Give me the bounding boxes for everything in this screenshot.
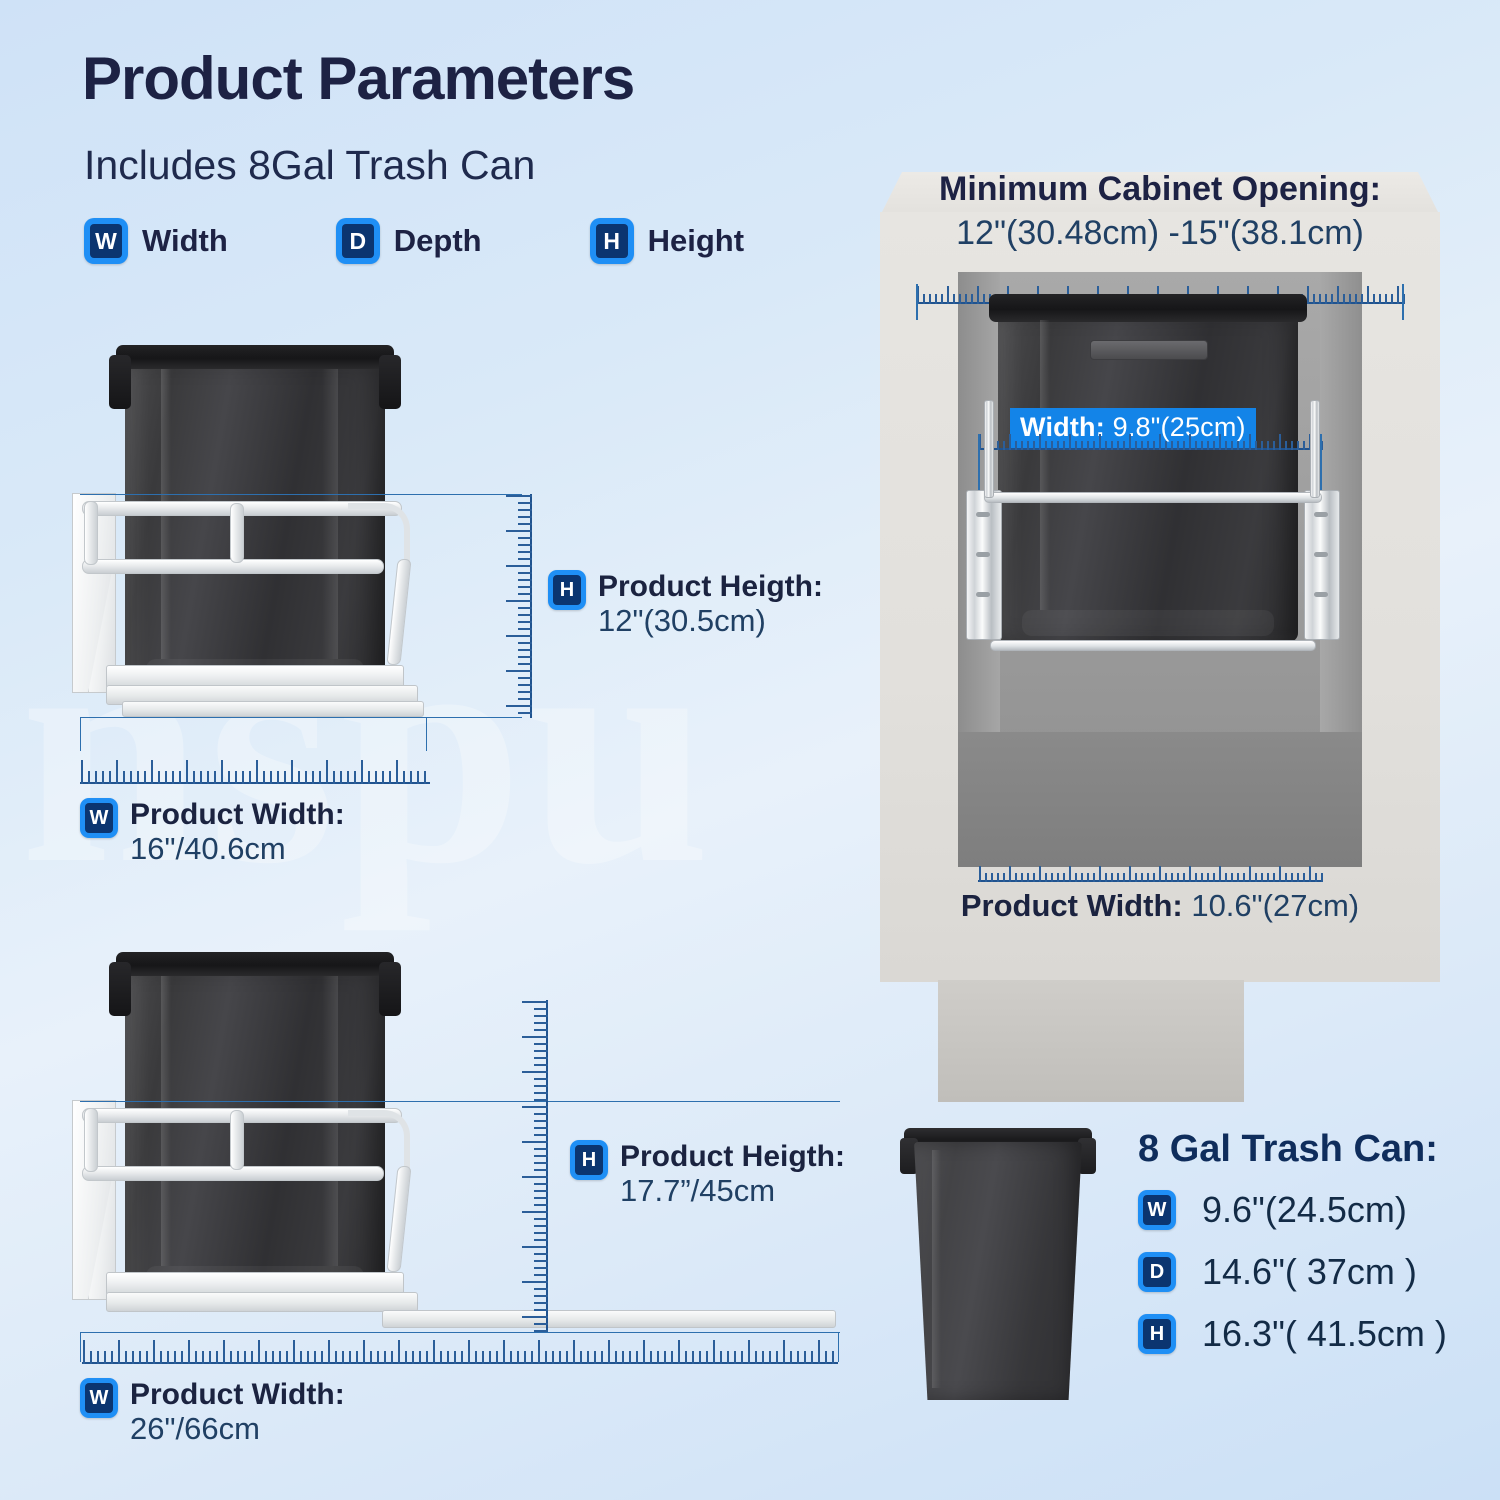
- spec-depth-value: 14.6"( 37cm ): [1202, 1251, 1417, 1293]
- bin-ear-right: [379, 355, 401, 409]
- ruler-tick: [1307, 286, 1309, 304]
- ruler-tick: [139, 1351, 141, 1364]
- ruler-tick: [1171, 441, 1173, 450]
- slide-slot-left-1: [976, 512, 990, 517]
- ruler-tick: [123, 771, 125, 784]
- trash-can-specs: 8 Gal Trash Can: W 9.6"(24.5cm) D 14.6"(…: [1138, 1128, 1447, 1375]
- ruler-tick: [545, 1351, 547, 1364]
- ruler-tick: [762, 1351, 764, 1364]
- ruler-tick: [1177, 873, 1179, 882]
- trash-can-highlight: [932, 1150, 941, 1388]
- ruler-tick: [524, 1351, 526, 1364]
- ruler-tick: [1201, 873, 1203, 882]
- depth-badge-icon: D: [336, 218, 380, 264]
- ruler-tick: [559, 1351, 561, 1364]
- bin-rim-2: [116, 952, 394, 976]
- ruler-tick: [95, 771, 97, 784]
- width-badge-icon: W: [84, 218, 128, 264]
- ruler-tick: [109, 771, 111, 784]
- ruler-tick: [503, 1340, 505, 1364]
- spec-width-badge-letter: W: [1143, 1195, 1171, 1225]
- ruler-tick: [328, 1340, 330, 1364]
- ruler-tick: [971, 294, 973, 304]
- cabinet-diagram: Minimum Cabinet Opening: 12"(30.48cm) -1…: [880, 172, 1440, 1012]
- ruler-tick: [790, 1351, 792, 1364]
- width-badge-letter-top: W: [85, 803, 113, 833]
- ruler-tick: [389, 771, 391, 784]
- ruler-tick: [235, 771, 237, 784]
- ruler-tick: [167, 1351, 169, 1364]
- ruler-tick: [534, 1309, 548, 1311]
- ruler-tick: [727, 1351, 729, 1364]
- ruler-tick: [291, 760, 293, 784]
- ruler-tick: [144, 771, 146, 784]
- ruler-tick: [1237, 441, 1239, 450]
- ruler-tick: [340, 771, 342, 784]
- ruler-tick: [111, 1351, 113, 1364]
- measure-height-bottom-line1: Product Heigth:: [620, 1140, 845, 1174]
- ruler-tick: [279, 1351, 281, 1364]
- ruler-tick: [354, 771, 356, 784]
- ruler-tick: [587, 1351, 589, 1364]
- ruler-tick: [517, 1351, 519, 1364]
- cabinet-bin-rim: [989, 294, 1307, 322]
- ruler-tick: [1385, 294, 1387, 304]
- ruler-tick: [230, 1351, 232, 1364]
- ruler-tick: [534, 1295, 548, 1297]
- ruler-tick: [1117, 873, 1119, 882]
- width-badge-icon-bottom: W: [80, 1378, 118, 1418]
- ruler-tick: [1051, 873, 1053, 882]
- ruler-tick: [566, 1351, 568, 1364]
- ruler-tick: [573, 1340, 575, 1364]
- ruler-tick: [137, 771, 139, 784]
- slide-slot-right-1: [1314, 512, 1328, 517]
- ruler-tick: [118, 1340, 120, 1364]
- legend-item-depth: D Depth: [336, 218, 482, 264]
- spec-width-value: 9.6"(24.5cm): [1202, 1189, 1407, 1231]
- ruler-tick: [769, 1351, 771, 1364]
- cabinet-bin-handle: [1090, 340, 1208, 360]
- ruler-tick: [1219, 434, 1221, 450]
- ruler-tick: [534, 1029, 548, 1031]
- ruler-tick: [151, 760, 153, 784]
- ruler-tick: [983, 294, 985, 304]
- ruler-tick: [417, 771, 419, 784]
- ruler-tick: [1099, 866, 1101, 882]
- horizontal-ruler-top: [80, 752, 430, 784]
- ruler-tick: [1039, 866, 1041, 882]
- ruler-tick: [1349, 294, 1351, 304]
- ruler-tick: [657, 1351, 659, 1364]
- ruler-tick: [1165, 441, 1167, 450]
- ruler-tick: [685, 1351, 687, 1364]
- legend-label-depth: Depth: [394, 223, 482, 259]
- ruler-tick: [1243, 873, 1245, 882]
- ruler-tick: [1057, 873, 1059, 882]
- dim-line-top-2: [80, 1101, 840, 1102]
- ruler-tick: [1297, 873, 1299, 882]
- ruler-tick: [270, 771, 272, 784]
- ruler-tick: [1117, 441, 1119, 450]
- ruler-tick: [534, 1078, 548, 1080]
- ruler-tick: [518, 516, 532, 518]
- ruler-tick: [1373, 294, 1375, 304]
- ruler-tick: [165, 771, 167, 784]
- ruler-tick: [518, 593, 532, 595]
- ruler-tick: [534, 1302, 548, 1304]
- legend: W Width D Depth H Height: [84, 218, 744, 264]
- ruler-tick: [518, 691, 532, 693]
- ruler-tick: [534, 1043, 548, 1045]
- height-badge-letter-bottom: H: [575, 1145, 603, 1175]
- ruler-tick: [1267, 441, 1269, 450]
- ruler-tick: [825, 1351, 827, 1364]
- ruler-tick: [1165, 873, 1167, 882]
- cabinet-floor: [958, 732, 1362, 867]
- trash-can-specs-title: 8 Gal Trash Can:: [1138, 1128, 1447, 1171]
- ruler-tick: [1063, 873, 1065, 882]
- ruler-tick: [312, 771, 314, 784]
- ruler-tick: [277, 771, 279, 784]
- ruler-tick: [518, 502, 532, 504]
- ruler-tick: [202, 1351, 204, 1364]
- legend-item-width: W Width: [84, 218, 228, 264]
- measure-width-bottom-line1: Product Width:: [130, 1378, 345, 1412]
- ruler-tick: [181, 1351, 183, 1364]
- ruler-tick: [534, 1113, 548, 1115]
- measure-height-top-line2: 12"(30.5cm): [598, 604, 823, 639]
- ruler-tick: [1303, 873, 1305, 882]
- ruler-tick: [506, 635, 532, 637]
- diagram-top-left: [70, 345, 550, 765]
- ruler-tick: [518, 544, 532, 546]
- ruler-tick: [305, 771, 307, 784]
- ruler-tick: [804, 1351, 806, 1364]
- vertical-ruler-top: [498, 494, 532, 718]
- ruler-tick: [748, 1340, 750, 1364]
- frame-left-post: [84, 501, 98, 565]
- frame-left-post-2: [84, 1108, 98, 1172]
- spec-depth-badge-icon: D: [1138, 1252, 1176, 1292]
- ruler-tick: [81, 760, 83, 784]
- ruler-tick: [1249, 434, 1251, 450]
- ruler-tick: [1159, 434, 1161, 450]
- ruler-tick: [518, 663, 532, 665]
- ruler-tick: [534, 1253, 548, 1255]
- ruler-tick: [1273, 873, 1275, 882]
- ruler-tick: [941, 294, 943, 304]
- ruler-tick: [403, 771, 405, 784]
- ruler-tick: [664, 1351, 666, 1364]
- ruler-tick: [706, 1351, 708, 1364]
- ruler-tick: [1379, 294, 1381, 304]
- ruler-tick: [368, 771, 370, 784]
- measure-height-top: H Product Heigth: 12"(30.5cm): [548, 570, 823, 638]
- ruler-tick: [1111, 441, 1113, 450]
- ruler-tick: [622, 1351, 624, 1364]
- ruler-tick: [1343, 294, 1345, 304]
- width-badge-icon-top: W: [80, 798, 118, 838]
- slide-slot-right-3: [1314, 592, 1328, 597]
- ruler-tick: [1153, 441, 1155, 450]
- slide-slot-right-2: [1314, 552, 1328, 557]
- ruler-tick: [518, 621, 532, 623]
- ruler-baseline: [80, 782, 430, 784]
- ruler-tick: [1015, 441, 1017, 450]
- height-badge-icon-top: H: [548, 570, 586, 610]
- ruler-tick: [1195, 441, 1197, 450]
- ruler-tick: [1009, 866, 1011, 882]
- ruler-tick: [195, 1351, 197, 1364]
- ruler-tick: [1261, 441, 1263, 450]
- ruler-tick: [1075, 873, 1077, 882]
- ruler-tick: [580, 1351, 582, 1364]
- depth-badge-letter: D: [342, 224, 374, 258]
- ruler-tick: [518, 586, 532, 588]
- slide-slot-left-2: [976, 552, 990, 557]
- ruler-tick: [1027, 441, 1029, 450]
- ruler-tick: [321, 1351, 323, 1364]
- ruler-tick: [1355, 294, 1357, 304]
- ruler-tick: [1313, 294, 1315, 304]
- cabinet-base-rail: [990, 640, 1316, 651]
- ruler-tick: [518, 523, 532, 525]
- ruler-tick: [256, 760, 258, 784]
- ruler-tick: [363, 1340, 365, 1364]
- ruler-tick: [382, 771, 384, 784]
- cabinet-dim-tick-left: [916, 284, 918, 320]
- ruler-tick: [1027, 873, 1029, 882]
- ruler-tick: [506, 670, 532, 672]
- ruler-tick: [1039, 434, 1041, 450]
- ruler-tick: [300, 1351, 302, 1364]
- trash-bin-illustration: [125, 361, 385, 691]
- cabinet-bin-highlight: [1040, 320, 1050, 610]
- ruler-tick: [1129, 434, 1131, 450]
- ruler-tick: [160, 1351, 162, 1364]
- trash-bin-illustration-2: [125, 968, 385, 1298]
- ruler-tick: [242, 771, 244, 784]
- ruler-tick: [923, 294, 925, 304]
- dim-tick-left-2: [80, 1332, 81, 1362]
- ruler-tick: [1111, 873, 1113, 882]
- cabinet-product-width-ruler: [978, 862, 1322, 882]
- width-badge-letter-bottom: W: [85, 1383, 113, 1413]
- ruler-tick: [506, 600, 532, 602]
- ruler-tick: [518, 579, 532, 581]
- ruler-tick: [1147, 441, 1149, 450]
- ruler-tick: [506, 530, 532, 532]
- ruler-tick: [1319, 294, 1321, 304]
- ruler-tick: [699, 1351, 701, 1364]
- cabinet-product-width-label: Product Width:: [961, 888, 1191, 923]
- ruler-tick: [534, 1260, 548, 1262]
- cabinet-upper-post-right: [1310, 400, 1320, 498]
- ruler-tick: [518, 572, 532, 574]
- ruler-tick: [522, 1281, 548, 1283]
- ruler-tick: [272, 1351, 274, 1364]
- ruler-tick: [396, 760, 398, 784]
- ruler-tick: [534, 1092, 548, 1094]
- ruler-tick: [929, 294, 931, 304]
- ruler-tick: [102, 771, 104, 784]
- ruler-tick: [1237, 873, 1239, 882]
- ruler-tick: [783, 1340, 785, 1364]
- ruler-tick: [965, 294, 967, 304]
- ruler-tick: [534, 1183, 548, 1185]
- ruler-tick: [447, 1351, 449, 1364]
- ruler-tick: [258, 1340, 260, 1364]
- ruler-tick: [734, 1351, 736, 1364]
- ruler-tick: [534, 1288, 548, 1290]
- ruler-tick: [1325, 294, 1327, 304]
- ruler-tick: [522, 1106, 548, 1108]
- spec-width-badge-icon: W: [1138, 1190, 1176, 1230]
- ruler-tick: [534, 1267, 548, 1269]
- ruler-tick: [83, 1340, 85, 1364]
- ruler-tick: [88, 771, 90, 784]
- measure-width-top: W Product Width: 16"/40.6cm: [80, 798, 345, 866]
- ruler-tick: [1051, 441, 1053, 450]
- ruler-tick: [1063, 441, 1065, 450]
- ruler-tick: [1285, 873, 1287, 882]
- ruler-tick: [776, 1351, 778, 1364]
- ruler-baseline: [978, 448, 1322, 450]
- ruler-tick: [326, 760, 328, 784]
- ruler-tick: [741, 1351, 743, 1364]
- ruler-tick: [104, 1351, 106, 1364]
- ruler-tick: [454, 1351, 456, 1364]
- ruler-tick: [1129, 866, 1131, 882]
- ruler-tick: [947, 286, 949, 304]
- ruler-tick: [506, 495, 532, 497]
- cabinet-product-width-caption: Product Width: 10.6"(27cm): [880, 888, 1440, 924]
- ruler-tick: [1045, 441, 1047, 450]
- ruler-tick: [1159, 866, 1161, 882]
- ruler-tick: [1045, 873, 1047, 882]
- ruler-tick: [518, 628, 532, 630]
- measure-width-bottom: W Product Width: 26"/66cm: [80, 1378, 345, 1446]
- measure-height-bottom: H Product Heigth: 17.7”/45cm: [570, 1140, 845, 1208]
- ruler-tick: [1015, 873, 1017, 882]
- ruler-tick: [534, 1204, 548, 1206]
- ruler-tick: [1309, 866, 1311, 882]
- ruler-tick: [534, 1323, 548, 1325]
- height-badge-letter: H: [596, 224, 628, 258]
- ruler-tick: [534, 1127, 548, 1129]
- legend-label-height: Height: [648, 223, 744, 259]
- measure-height-bottom-line2: 17.7”/45cm: [620, 1174, 845, 1209]
- ruler-tick: [1219, 866, 1221, 882]
- ruler-tick: [534, 1225, 548, 1227]
- ruler-tick: [286, 1351, 288, 1364]
- ruler-tick: [1033, 441, 1035, 450]
- ruler-tick: [249, 771, 251, 784]
- ruler-tick: [522, 1211, 548, 1213]
- ruler-tick: [1267, 873, 1269, 882]
- ruler-tick: [1075, 441, 1077, 450]
- ruler-tick: [384, 1351, 386, 1364]
- ruler-tick: [1123, 873, 1125, 882]
- ruler-tick: [985, 873, 987, 882]
- page-title: Product Parameters: [82, 44, 634, 113]
- dim-tick-right: [426, 717, 427, 751]
- ruler-tick: [1367, 286, 1369, 304]
- ruler-tick: [534, 1190, 548, 1192]
- ruler-tick: [361, 760, 363, 784]
- ruler-tick: [1231, 873, 1233, 882]
- ruler-tick: [534, 1148, 548, 1150]
- ruler-tick: [534, 1064, 548, 1066]
- ruler-tick: [298, 771, 300, 784]
- ruler-tick: [538, 1340, 540, 1364]
- ruler-tick: [1225, 441, 1227, 450]
- ruler-tick: [935, 294, 937, 304]
- ruler-tick: [1069, 866, 1071, 882]
- ruler-tick: [650, 1351, 652, 1364]
- ruler-tick: [1213, 441, 1215, 450]
- ruler-tick: [1093, 441, 1095, 450]
- ruler-tick: [349, 1351, 351, 1364]
- page-subtitle: Includes 8Gal Trash Can: [84, 142, 535, 189]
- ruler-tick: [1147, 873, 1149, 882]
- bin-ear-right-2: [379, 962, 401, 1016]
- ruler-tick: [1189, 434, 1191, 450]
- ruler-tick: [692, 1351, 694, 1364]
- ruler-tick: [153, 1340, 155, 1364]
- cabinet-opening-value: 12"(30.48cm) -15"(38.1cm): [880, 214, 1440, 253]
- ruler-tick: [424, 771, 426, 784]
- ruler-tick: [347, 771, 349, 784]
- ruler-tick: [1081, 873, 1083, 882]
- ruler-tick: [207, 771, 209, 784]
- ruler-tick: [518, 551, 532, 553]
- ruler-tick: [518, 684, 532, 686]
- ruler-tick: [678, 1340, 680, 1364]
- ruler-tick: [1243, 441, 1245, 450]
- cabinet-dim-tick-right: [1402, 284, 1404, 320]
- trash-can-spec-depth: D 14.6"( 37cm ): [1138, 1251, 1447, 1293]
- ruler-tick: [997, 873, 999, 882]
- ruler-tick: [174, 1351, 176, 1364]
- ruler-tick: [522, 1001, 548, 1003]
- ruler-tick: [188, 1340, 190, 1364]
- ruler-tick: [263, 771, 265, 784]
- ruler-tick: [377, 1351, 379, 1364]
- ruler-tick: [223, 1340, 225, 1364]
- spec-height-badge-icon: H: [1138, 1314, 1176, 1354]
- ruler-tick: [116, 760, 118, 784]
- ruler-tick: [237, 1351, 239, 1364]
- ruler-tick: [522, 1316, 548, 1318]
- ruler-tick: [1135, 441, 1137, 450]
- ruler-tick: [1391, 294, 1393, 304]
- ruler-tick: [265, 1351, 267, 1364]
- ruler-tick: [1141, 441, 1143, 450]
- ruler-tick: [1087, 441, 1089, 450]
- ruler-tick: [977, 286, 979, 304]
- ruler-tick: [1321, 873, 1323, 882]
- ruler-tick: [370, 1351, 372, 1364]
- ruler-baseline: [978, 880, 1322, 882]
- ruler-tick: [1397, 286, 1399, 304]
- ruler-tick: [1273, 441, 1275, 450]
- dim-line-top: [80, 494, 522, 495]
- ruler-tick: [1279, 434, 1281, 450]
- ruler-tick: [1231, 441, 1233, 450]
- ruler-tick: [1255, 873, 1257, 882]
